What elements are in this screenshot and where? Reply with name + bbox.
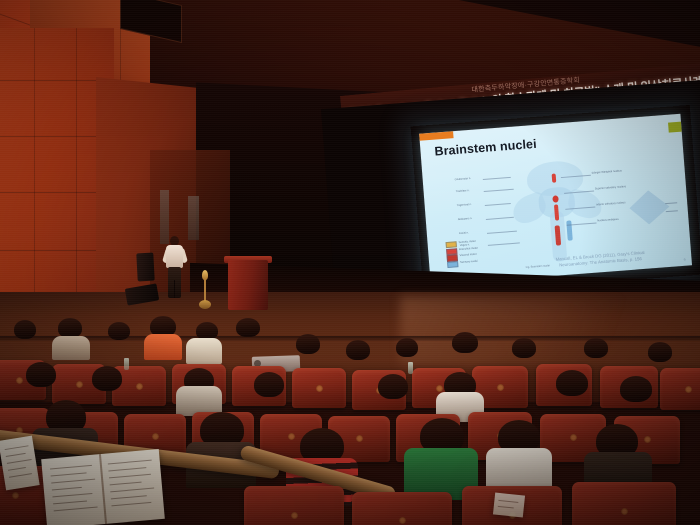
attendee-head [92,366,122,391]
slide-accent-orange [419,131,453,141]
attendee-head [296,334,320,354]
slide-title: Brainstem nuclei [434,137,537,159]
slide-legend: Somatic motor Branchial motor Visceral m… [446,237,518,269]
diagram-label-left-1: Oculomotor n. [455,177,471,181]
note-paper[interactable] [493,492,525,517]
attendee-head [108,322,130,340]
theater-seat[interactable] [572,482,676,525]
legend-label: Visceral motor [460,253,477,257]
audience-area [0,316,700,525]
attendee-head [378,374,408,399]
decorative-floor-stand [199,270,211,310]
legend-label: Branchial motor [459,246,478,250]
attendee-head [452,332,478,353]
attendee-head [14,320,36,339]
legend-swatch [447,261,458,268]
diagram-label-left-5: Facial n. [459,231,469,235]
attendee-head [584,338,608,358]
podium [228,260,268,310]
attendee-head [236,318,260,337]
legend-label: Somatic motor [458,240,476,244]
attendee-head [512,338,536,358]
secondary-diagram-shape [628,189,670,226]
program-booklet-open[interactable] [41,449,165,525]
attendee-torso [144,334,182,360]
water-bottle[interactable] [124,358,129,370]
presenter [164,236,186,298]
attendee-torso [52,336,90,360]
presenter-leg-gap [174,280,175,298]
presenter-shirt [166,245,183,268]
attendee-head [648,342,672,362]
diagram-label-right-1: Edinger-Westphal nucleus [592,169,622,174]
water-bottle[interactable] [408,362,413,374]
auditorium-photo: 대한측두하악장애·구강안면통증학회 "TMJ·Cranium·Spine·Pel… [0,0,700,525]
attendee-head [620,376,652,402]
slide-page-number: 9 [684,258,686,262]
theater-seat[interactable] [660,368,700,410]
presentation-slide: TMJ Brainstem nuclei [419,114,692,286]
attendee-torso [186,338,222,364]
stage-monitor-upright [136,253,154,282]
diagram-label-left-2: Trochlear n. [456,189,470,193]
diagram-nucleus-marker-1 [552,173,557,182]
diagram-label-right-2: Superior salivatory nucleus [595,185,626,190]
attendee-head [556,370,588,396]
theater-seat[interactable] [352,492,452,525]
slide-accent-olive-square [668,122,682,133]
legend-label: Sensory nuclei [460,259,478,263]
brainstem-diagram: Oculomotor n. Trochlear n. Trigeminal n.… [506,156,610,267]
attendee-head [26,362,56,387]
diagram-label-left-3: Trigeminal n. [457,203,472,207]
attendee-head [58,318,82,338]
diagram-label-right-4: Nucleus ambiguus [597,218,619,223]
diagram-label-left-4: Abducens n. [458,217,473,221]
attendee-head [346,340,370,360]
attendee-head [254,372,284,397]
attendee-head [396,338,418,357]
theater-seat[interactable] [244,486,344,525]
theater-seat[interactable] [292,368,346,408]
stand-base [199,300,211,309]
secondary-diagram [624,184,681,232]
wall-light-strip-b [188,196,199,240]
stand-neck [204,279,206,301]
